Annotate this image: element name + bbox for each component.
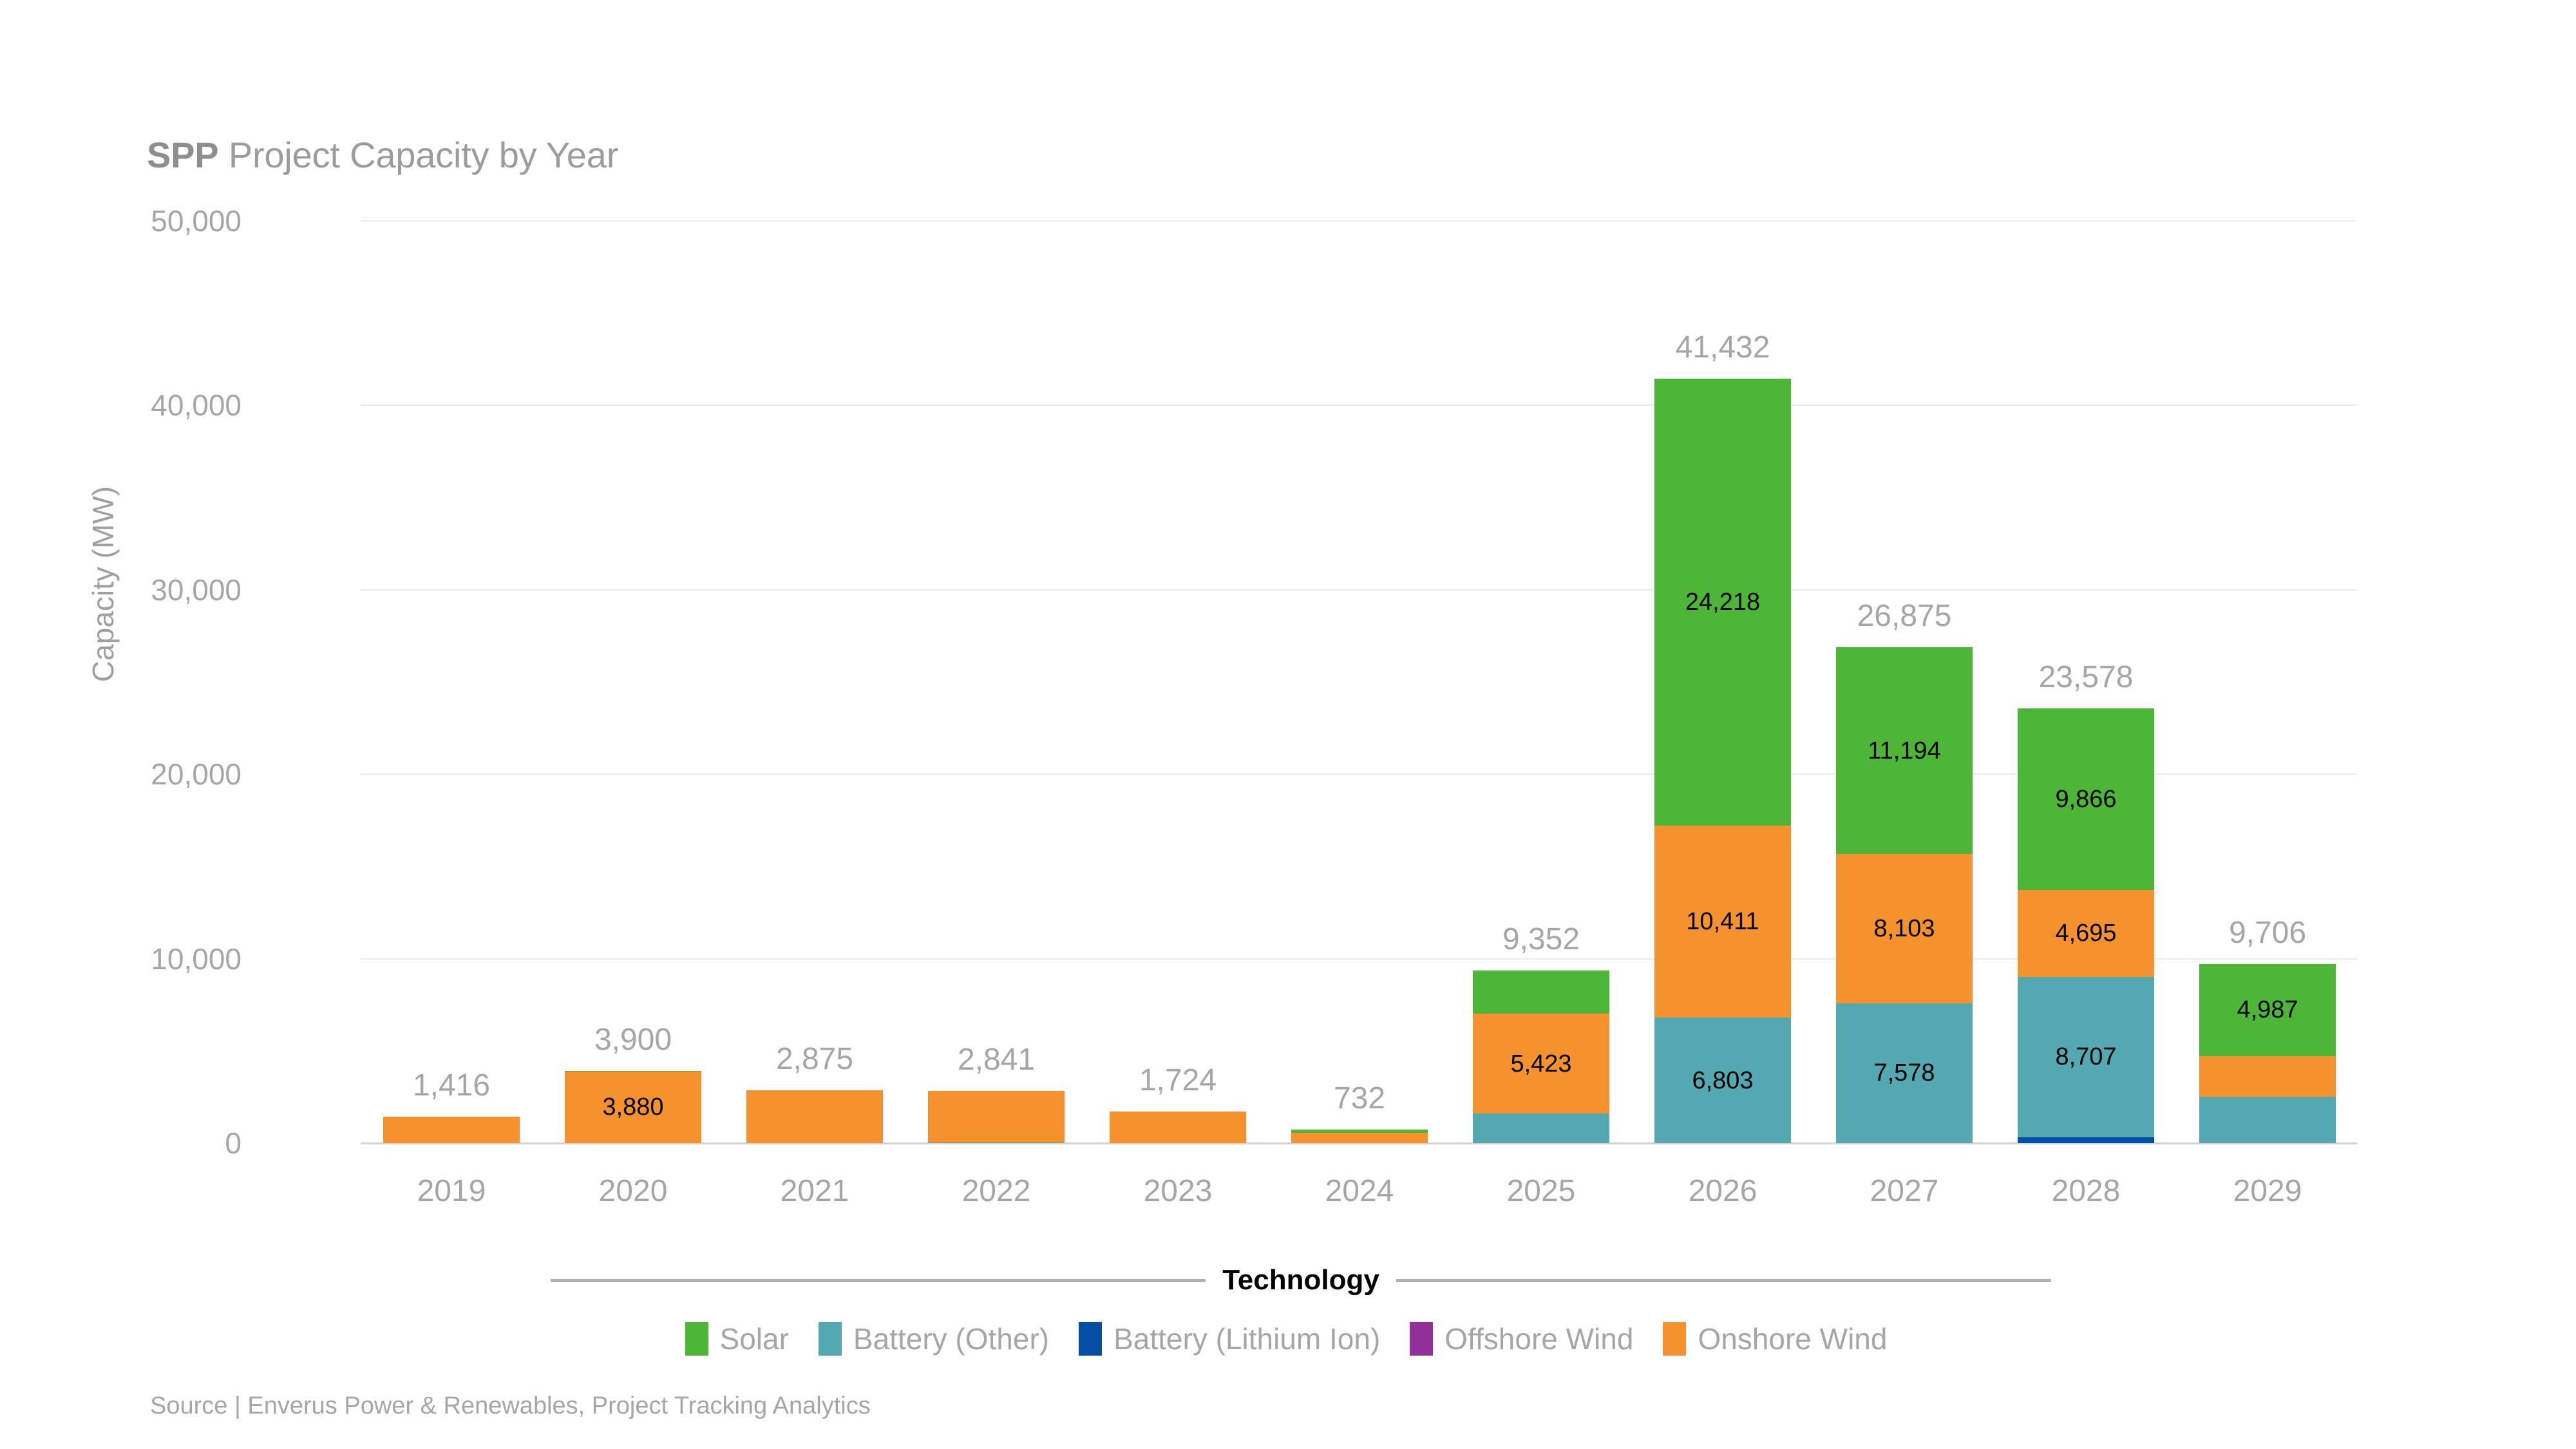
bar-segment-2023-onshore-wind[interactable] <box>1110 1112 1246 1143</box>
bar-stack-2020[interactable]: 3,880 <box>565 1071 701 1143</box>
bar-segment-2026-solar[interactable]: 24,218 <box>1654 379 1791 826</box>
bar-total-label-2029: 9,706 <box>2177 915 2358 951</box>
bar-total-label-2026: 41,432 <box>1632 330 1814 365</box>
bar-stack-2029[interactable]: 4,987 <box>2199 964 2336 1143</box>
legend-rule-left <box>551 1279 1206 1282</box>
y-tick-label-30000: 30,000 <box>87 573 241 607</box>
legend-title-row: Technology <box>551 1262 2051 1298</box>
bar-stack-2025[interactable]: 5,423 <box>1473 971 1609 1143</box>
y-tick-label-50000: 50,000 <box>87 204 241 238</box>
bar-segment-2025-solar[interactable] <box>1473 971 1609 1014</box>
legend-swatch-icon <box>685 1322 708 1356</box>
x-tick-label-2026: 2026 <box>1632 1173 1814 1209</box>
bar-stack-2027[interactable]: 11,1948,1037,578 <box>1836 647 1973 1143</box>
bar-segment-2028-battery-lithium-ion[interactable] <box>2018 1137 2154 1143</box>
bar-total-label-2020: 3,900 <box>542 1022 724 1057</box>
bar-total-label-2027: 26,875 <box>1814 598 1995 634</box>
bar-segment-2025-battery-other[interactable] <box>1473 1113 1609 1143</box>
legend-item-label: Offshore Wind <box>1444 1321 1633 1356</box>
y-tick-label-20000: 20,000 <box>87 757 241 791</box>
legend-item-label: Battery (Lithium Ion) <box>1113 1321 1380 1356</box>
bar-segment-2026-battery-other[interactable]: 6,803 <box>1654 1018 1791 1143</box>
bar-segment-2022-onshore-wind[interactable] <box>928 1091 1065 1142</box>
bar-segment-2029-onshore-wind[interactable] <box>2199 1056 2336 1097</box>
bar-column-2019[interactable]: 1,4162019 <box>361 0 542 1449</box>
bar-stack-2022[interactable] <box>928 1091 1065 1143</box>
bar-column-2022[interactable]: 2,8412022 <box>905 0 1087 1449</box>
bar-column-2027[interactable]: 11,1948,1037,57826,8752027 <box>1814 0 1995 1449</box>
bar-segment-2019-onshore-wind[interactable] <box>383 1117 520 1143</box>
bar-segment-2024-onshore-wind[interactable] <box>1291 1133 1428 1143</box>
legend-item-battery-lithium-ion[interactable]: Battery (Lithium Ion) <box>1079 1321 1380 1356</box>
bar-total-label-2021: 2,875 <box>724 1041 905 1077</box>
bar-stack-2023[interactable] <box>1110 1112 1246 1143</box>
bar-segment-2027-solar[interactable]: 11,194 <box>1836 647 1973 854</box>
bar-total-label-2028: 23,578 <box>1995 659 2177 695</box>
bar-column-2025[interactable]: 5,4239,3522025 <box>1450 0 1632 1449</box>
bar-stack-2021[interactable] <box>746 1090 883 1143</box>
bar-segment-2028-onshore-wind[interactable]: 4,695 <box>2018 890 2154 976</box>
legend-items: SolarBattery (Other)Battery (Lithium Ion… <box>551 1321 2051 1356</box>
bar-segment-value: 8,707 <box>2055 1045 2116 1069</box>
bar-stack-2026[interactable]: 24,21810,4116,803 <box>1654 379 1791 1143</box>
x-tick-label-2019: 2019 <box>361 1173 542 1209</box>
bar-segment-2022-battery-other[interactable] <box>928 1142 1065 1143</box>
legend-item-offshore-wind[interactable]: Offshore Wind <box>1410 1321 1633 1356</box>
bar-stack-2028[interactable]: 9,8664,6958,707 <box>2018 708 2154 1143</box>
bar-segment-value: 7,578 <box>1873 1061 1935 1085</box>
bar-segment-2021-onshore-wind[interactable] <box>746 1090 883 1143</box>
y-tick-label-40000: 40,000 <box>87 388 241 422</box>
bar-segment-2027-battery-other[interactable]: 7,578 <box>1836 1003 1973 1143</box>
bar-total-label-2023: 1,724 <box>1087 1063 1269 1098</box>
bar-column-2029[interactable]: 4,9879,7062029 <box>2177 0 2358 1449</box>
legend-item-solar[interactable]: Solar <box>685 1321 789 1356</box>
bar-segment-value: 8,103 <box>1873 916 1935 941</box>
bar-segment-value: 24,218 <box>1685 590 1760 614</box>
source-note: Source | Enverus Power & Renewables, Pro… <box>150 1392 871 1420</box>
legend-item-label: Onshore Wind <box>1698 1321 1887 1356</box>
bar-segment-value: 11,194 <box>1868 739 1940 763</box>
bar-segment-value: 9,866 <box>2055 787 2116 811</box>
y-tick-label-0: 0 <box>87 1126 241 1160</box>
bar-column-2020[interactable]: 3,8803,9002020 <box>542 0 724 1449</box>
bar-total-label-2019: 1,416 <box>361 1068 542 1103</box>
bar-segment-2025-onshore-wind[interactable]: 5,423 <box>1473 1014 1609 1113</box>
bar-segment-value: 10,411 <box>1686 909 1759 934</box>
bar-stack-2019[interactable] <box>383 1117 520 1143</box>
bar-column-2021[interactable]: 2,8752021 <box>724 0 905 1449</box>
legend-swatch-icon <box>1410 1322 1433 1356</box>
x-tick-label-2024: 2024 <box>1269 1173 1450 1209</box>
bar-segment-value: 3,880 <box>602 1095 663 1119</box>
legend-swatch-icon <box>819 1322 842 1356</box>
x-tick-label-2022: 2022 <box>905 1173 1087 1209</box>
legend-item-battery-other[interactable]: Battery (Other) <box>819 1321 1049 1356</box>
legend: Technology SolarBattery (Other)Battery (… <box>551 1262 2051 1356</box>
y-tick-label-10000: 10,000 <box>87 942 241 976</box>
legend-swatch-icon <box>1663 1322 1686 1356</box>
legend-item-label: Solar <box>720 1321 789 1356</box>
y-axis-ticks: 010,00020,00030,00040,00050,000 <box>87 0 241 1449</box>
legend-swatch-icon <box>1079 1322 1102 1356</box>
legend-item-label: Battery (Other) <box>853 1321 1049 1356</box>
bar-segment-2027-onshore-wind[interactable]: 8,103 <box>1836 854 1973 1003</box>
bar-segment-2026-onshore-wind[interactable]: 10,411 <box>1654 826 1791 1018</box>
bar-total-label-2025: 9,352 <box>1450 922 1632 957</box>
legend-rule-right <box>1396 1279 2051 1282</box>
legend-item-onshore-wind[interactable]: Onshore Wind <box>1663 1321 1887 1356</box>
x-tick-label-2027: 2027 <box>1814 1173 1995 1209</box>
bar-column-2028[interactable]: 9,8664,6958,70723,5782028 <box>1995 0 2177 1449</box>
bar-segment-value: 4,695 <box>2055 921 2116 945</box>
bar-segment-2029-battery-other[interactable] <box>2199 1097 2336 1143</box>
bar-column-2023[interactable]: 1,7242023 <box>1087 0 1269 1449</box>
bar-column-2024[interactable]: 7322024 <box>1269 0 1450 1449</box>
x-tick-label-2020: 2020 <box>542 1173 724 1209</box>
bar-column-2026[interactable]: 24,21810,4116,80341,4322026 <box>1632 0 1814 1449</box>
bars-layer: 1,41620193,8803,90020202,87520212,841202… <box>361 0 2357 1449</box>
bar-segment-value: 4,987 <box>2237 998 2298 1022</box>
x-tick-label-2023: 2023 <box>1087 1173 1269 1209</box>
x-tick-label-2028: 2028 <box>1995 1173 2177 1209</box>
x-tick-label-2025: 2025 <box>1450 1173 1632 1209</box>
bar-segment-value: 6,803 <box>1692 1068 1753 1093</box>
x-tick-label-2021: 2021 <box>724 1173 905 1209</box>
bar-segment-2028-battery-other[interactable]: 8,707 <box>2018 977 2154 1137</box>
bar-segment-2028-solar[interactable]: 9,866 <box>2018 708 2154 891</box>
bar-segment-2029-solar[interactable]: 4,987 <box>2199 964 2336 1056</box>
bar-segment-2020-onshore-wind[interactable]: 3,880 <box>565 1072 701 1143</box>
bar-stack-2024[interactable] <box>1291 1130 1428 1143</box>
bar-total-label-2024: 732 <box>1269 1081 1450 1116</box>
chart-plot-area: Capacity (MW) 010,00020,00030,00040,0005… <box>0 0 2576 1449</box>
bar-segment-value: 5,423 <box>1510 1052 1571 1076</box>
legend-title: Technology <box>1206 1264 1396 1296</box>
bar-total-label-2022: 2,841 <box>905 1042 1087 1077</box>
x-tick-label-2029: 2029 <box>2177 1173 2358 1209</box>
